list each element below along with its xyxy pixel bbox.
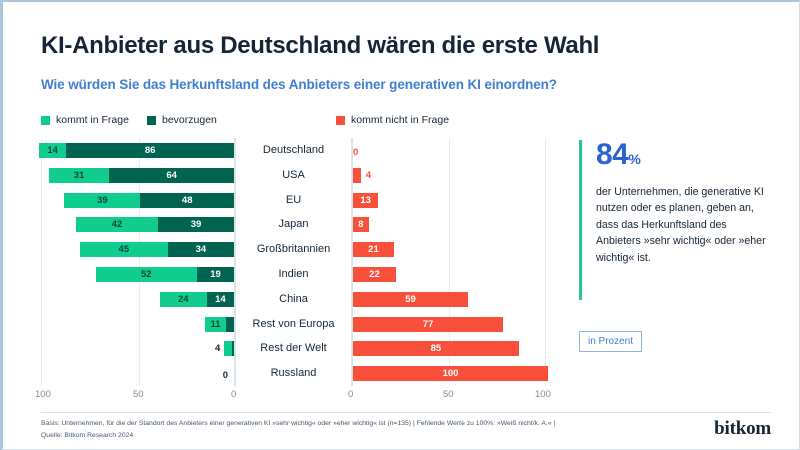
bar-group-left: 1952 (96, 267, 234, 282)
bar-group-left: 6431 (49, 168, 234, 183)
bar-group-left: 11 (205, 317, 234, 332)
table-row: 59 (351, 287, 546, 312)
chart-area: 86146431483939423445195214241140 Deutsch… (41, 138, 546, 386)
page-subtitle: Wie würden Sie das Herkunftsland des Anb… (41, 77, 557, 92)
callout-accent-rule (579, 140, 582, 300)
axis-tick-left-100: 100 (35, 389, 51, 400)
bar-value-label: 0 (353, 145, 358, 160)
category-label: Russland (236, 366, 351, 381)
axis-tick-right-50: 50 (443, 389, 454, 400)
table-row: 8 (351, 212, 546, 237)
category-label: Rest der Welt (236, 341, 351, 356)
legend-label: bevorzugen (162, 114, 217, 126)
table-row: 4 (41, 336, 236, 361)
table-row: 4 (351, 163, 546, 188)
footer-divider (41, 412, 771, 413)
bar-segment-bevorzugen: 48 (140, 193, 234, 208)
callout-number-value: 84 (596, 138, 628, 171)
axis-tick-right-100: 100 (535, 389, 551, 400)
category-row: USA (236, 163, 351, 188)
key-figure-callout: 84% der Unternehmen, die generative KI n… (579, 138, 769, 308)
square-swatch-icon (41, 116, 50, 125)
square-swatch-icon (147, 116, 156, 125)
axis-tick-left-0: 0 (231, 389, 236, 400)
bar-value-label: 4 (366, 168, 371, 183)
callout-percent-sign: % (628, 151, 640, 167)
bar-group-left: 4839 (64, 193, 234, 208)
bar-segment-bevorzugen: 39 (158, 217, 234, 232)
bar-segment-kommt-nicht-in-frage: 8 (353, 217, 369, 232)
bar-segment-kommt-in-frage: 11 (205, 317, 226, 332)
unit-badge: in Prozent (579, 331, 642, 352)
category-label: Großbritannien (236, 242, 351, 257)
chart-panel-right: 041382122597785100 (351, 138, 546, 386)
category-label: EU (236, 193, 351, 208)
bar-segment-bevorzugen (232, 341, 234, 356)
category-label: Japan (236, 217, 351, 232)
table-row: 4839 (41, 188, 236, 213)
bar-group-left: 3445 (80, 242, 234, 257)
bar-segment-kommt-in-frage: 24 (160, 292, 207, 307)
category-row: EU (236, 188, 351, 213)
square-swatch-icon (336, 116, 345, 125)
category-row: Großbritannien (236, 237, 351, 262)
legend-label: kommt nicht in Frage (351, 114, 449, 126)
category-label: China (236, 292, 351, 307)
bar-segment-bevorzugen: 34 (168, 242, 234, 257)
category-row: Russland (236, 361, 351, 386)
table-row: 77 (351, 312, 546, 337)
category-label: Rest von Europa (236, 317, 351, 332)
bar-segment-kommt-nicht-in-frage: 4 (353, 168, 361, 183)
bar-group-right: 59 (353, 292, 468, 307)
footer-note: Basis: Unternehmen, für die der Standort… (41, 418, 661, 442)
bar-segment-kommt-in-frage: 45 (80, 242, 168, 257)
bar-group-right: 85 (353, 341, 519, 356)
table-row: 13 (351, 188, 546, 213)
bar-segment-bevorzugen: 14 (207, 292, 234, 307)
table-row: 6431 (41, 163, 236, 188)
bar-segment-kommt-in-frage: 39 (64, 193, 140, 208)
legend-item-kommt-in-frage[interactable]: kommt in Frage (41, 114, 129, 126)
table-row: 1424 (41, 287, 236, 312)
table-row: 3445 (41, 237, 236, 262)
table-row: 8614 (41, 138, 236, 163)
bar-segment-kommt-in-frage: 14 (39, 143, 66, 158)
bar-segment-kommt-nicht-in-frage: 22 (353, 267, 396, 282)
table-row: 21 (351, 237, 546, 262)
footer-basis: Basis: Unternehmen, für die der Standort… (41, 418, 661, 430)
category-row: Deutschland (236, 138, 351, 163)
bar-group-left: 8614 (39, 143, 234, 158)
chart-panel-categories: DeutschlandUSAEUJapanGroßbritannienIndie… (236, 138, 351, 386)
bar-group-right: 21 (353, 242, 394, 257)
table-row: 85 (351, 336, 546, 361)
bar-group-right: 4 (353, 168, 361, 183)
chart-panel-left: 86146431483939423445195214241140 (41, 138, 236, 386)
bar-segment-kommt-in-frage: 52 (96, 267, 197, 282)
bar-group-left: 1424 (160, 292, 234, 307)
callout-body-text: der Unternehmen, die generative KI nutze… (596, 184, 768, 266)
table-row: 0 (41, 361, 236, 386)
slide-root: KI-Anbieter aus Deutschland wären die er… (0, 0, 800, 450)
category-row: Rest von Europa (236, 312, 351, 337)
bar-segment-kommt-in-frage: 31 (49, 168, 109, 183)
bar-segment-bevorzugen: 86 (66, 143, 234, 158)
bar-segment-bevorzugen (226, 317, 234, 332)
bar-segment-kommt-in-frage: 4 (224, 341, 232, 356)
axis-tick-left-50: 50 (133, 389, 144, 400)
category-label: Deutschland (236, 143, 351, 158)
table-row: 11 (41, 312, 236, 337)
bar-group-right: 8 (353, 217, 369, 232)
bar-group-right: 13 (353, 193, 378, 208)
legend-item-bevorzugen[interactable]: bevorzugen (147, 114, 217, 126)
legend-item-kommt-nicht-in-frage[interactable]: kommt nicht in Frage (336, 114, 449, 126)
category-label: Indien (236, 267, 351, 282)
bar-value-label: 4 (215, 341, 220, 356)
category-row: Rest der Welt (236, 336, 351, 361)
bar-group-left: 4 (224, 341, 234, 356)
category-row: Indien (236, 262, 351, 287)
bar-segment-kommt-nicht-in-frage: 77 (353, 317, 503, 332)
bar-group-right: 22 (353, 267, 396, 282)
axis-tick-right-0: 0 (348, 389, 353, 400)
category-row: Japan (236, 212, 351, 237)
category-label: USA (236, 168, 351, 183)
callout-number: 84% (596, 138, 640, 172)
category-row: China (236, 287, 351, 312)
table-row: 0 (351, 138, 546, 163)
bitkom-logo: bitkom (714, 418, 771, 440)
bar-segment-kommt-nicht-in-frage: 13 (353, 193, 378, 208)
bar-segment-kommt-nicht-in-frage: 21 (353, 242, 394, 257)
footer-source: Quelle: Bitkom Research 2024 (41, 430, 661, 442)
legend-label: kommt in Frage (56, 114, 129, 126)
bar-segment-bevorzugen: 19 (197, 267, 234, 282)
bar-segment-kommt-nicht-in-frage: 59 (353, 292, 468, 307)
page-title: KI-Anbieter aus Deutschland wären die er… (41, 32, 599, 60)
bar-segment-kommt-nicht-in-frage: 85 (353, 341, 519, 356)
bar-group-right: 77 (353, 317, 503, 332)
bar-group-right: 100 (353, 366, 548, 381)
bar-value-label: 0 (223, 368, 228, 383)
table-row: 3942 (41, 212, 236, 237)
table-row: 22 (351, 262, 546, 287)
bar-group-left: 3942 (76, 217, 234, 232)
table-row: 100 (351, 361, 546, 386)
bar-segment-kommt-nicht-in-frage: 100 (353, 366, 548, 381)
bar-segment-bevorzugen: 64 (109, 168, 234, 183)
bar-segment-kommt-in-frage: 42 (76, 217, 158, 232)
table-row: 1952 (41, 262, 236, 287)
